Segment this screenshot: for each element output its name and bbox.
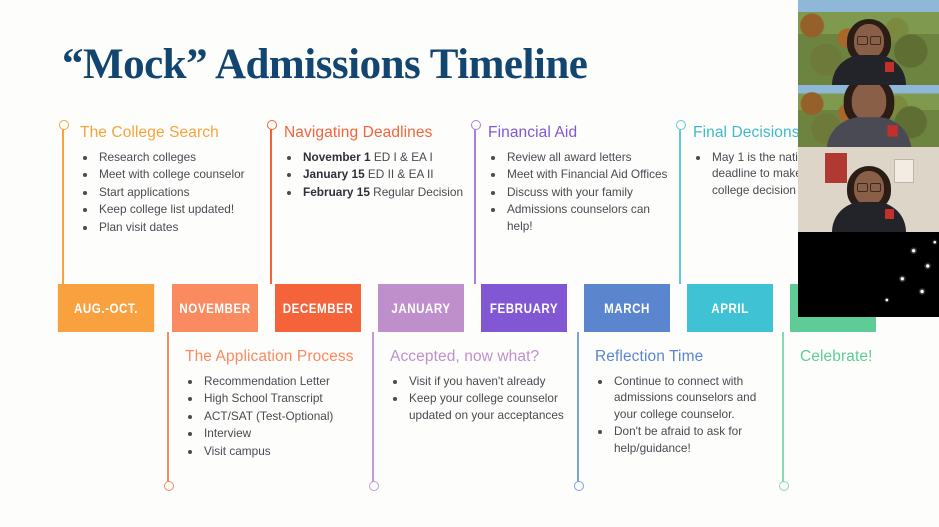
month-cell-february[interactable]: FEBRUARY (474, 284, 577, 332)
avatar-body (832, 202, 906, 232)
shirt-logo (885, 209, 894, 219)
video-call-panel (798, 0, 939, 317)
connector-ring-icon (59, 120, 69, 130)
list-item: Keep your college counselor updated on y… (407, 390, 565, 423)
month-cell-april[interactable]: APRIL (680, 284, 783, 332)
connector-ring-icon (164, 481, 174, 491)
timeline-block-financial-aid: Financial Aid Review all award letters M… (488, 124, 673, 235)
connector-ring-icon (574, 481, 584, 491)
avatar-body (832, 55, 906, 85)
timeline-block-accepted-now-what: Accepted, now what? Visit if you haven't… (390, 348, 565, 424)
list-item: Keep college list updated! (97, 201, 275, 217)
list-item: Recommendation Letter (202, 373, 380, 389)
month-cell-march[interactable]: MARCH (577, 284, 680, 332)
timeline-block-reflection-time: Reflection Time Continue to connect with… (595, 348, 780, 457)
block-heading: Accepted, now what? (390, 348, 565, 366)
month-cell-december[interactable]: DECEMBER (268, 284, 371, 332)
avatar-head (854, 24, 884, 58)
list-item: Don't be afraid to ask for help/guidance… (612, 423, 780, 456)
month-cell-aug-oct[interactable]: AUG.-OCT. (50, 284, 165, 332)
video-tile-participant-3[interactable] (798, 147, 939, 232)
block-heading: Reflection Time (595, 348, 780, 366)
participant-avatar (832, 24, 906, 85)
month-label: DECEMBER (275, 284, 361, 332)
connector-ring-icon (369, 481, 379, 491)
connector-line-reflection-time (577, 332, 579, 487)
block-heading: Celebrate! (800, 348, 930, 366)
video-tile-participant-4[interactable] (798, 232, 939, 317)
block-bullet-list: Visit if you haven't already Keep your c… (390, 373, 565, 423)
avatar-body (826, 117, 911, 147)
list-item: Review all award letters (505, 149, 673, 165)
month-cell-january[interactable]: JANUARY (371, 284, 474, 332)
shirt-logo (887, 125, 897, 137)
list-item: Discuss with your family (505, 184, 673, 200)
block-bullet-list: Continue to connect with admissions coun… (595, 373, 780, 456)
list-item: November 1 ED I & EA I (301, 149, 479, 165)
list-item: Continue to connect with admissions coun… (612, 373, 780, 422)
month-cell-november[interactable]: NOVEMBER (165, 284, 268, 332)
glasses-icon (857, 183, 881, 190)
string-lights-background (798, 232, 939, 317)
list-item: February 15 Regular Decision (301, 184, 479, 200)
participant-avatar (826, 85, 911, 147)
list-item: Admissions counselors can help! (505, 201, 673, 234)
connector-ring-icon (779, 481, 789, 491)
timeline-month-bar: AUG.-OCT. NOVEMBER DECEMBER JANUARY FEBR… (50, 284, 886, 332)
list-item: Interview (202, 425, 380, 441)
page-title: “Mock” Admissions Timeline (62, 40, 587, 89)
glasses-icon (857, 36, 881, 43)
month-label: MARCH (584, 284, 670, 332)
list-item: January 15 ED II & EA II (301, 166, 479, 182)
list-item: Visit if you haven't already (407, 373, 565, 389)
block-bullet-list: Recommendation Letter High School Transc… (185, 373, 380, 459)
list-item: Meet with college counselor (97, 166, 275, 182)
month-label: NOVEMBER (172, 284, 258, 332)
block-bullet-list: Review all award letters Meet with Finan… (488, 149, 673, 234)
avatar-head (854, 171, 884, 205)
list-item: ACT/SAT (Test-Optional) (202, 408, 380, 424)
block-heading: Financial Aid (488, 124, 673, 142)
video-tile-participant-1[interactable] (798, 0, 939, 85)
avatar-head (851, 85, 886, 121)
list-item: Meet with Financial Aid Offices (505, 166, 673, 182)
list-item: High School Transcript (202, 390, 380, 406)
list-item: Research colleges (97, 149, 275, 165)
connector-line-final-decisions (679, 124, 681, 284)
connector-line-celebrate (782, 332, 784, 487)
timeline-block-navigating-deadlines: Navigating Deadlines November 1 ED I & E… (284, 124, 479, 201)
month-label: AUG.-OCT. (58, 284, 154, 332)
block-bullet-list: November 1 ED I & EA I January 15 ED II … (284, 149, 479, 200)
list-item: Visit campus (202, 443, 380, 459)
connector-line-college-search (62, 124, 64, 284)
block-heading: Navigating Deadlines (284, 124, 479, 142)
connector-line-application-process (167, 332, 169, 487)
block-heading: The College Search (80, 124, 275, 142)
month-label: FEBRUARY (481, 284, 567, 332)
participant-avatar (832, 171, 906, 232)
shirt-logo (885, 62, 894, 72)
timeline-block-college-search: The College Search Research colleges Mee… (80, 124, 275, 236)
block-bullet-list: Research colleges Meet with college coun… (80, 149, 275, 235)
timeline-block-application-process: The Application Process Recommendation L… (185, 348, 380, 460)
list-item: Start applications (97, 184, 275, 200)
connector-ring-icon (676, 120, 686, 130)
video-tile-participant-2[interactable] (798, 85, 939, 147)
block-heading: The Application Process (185, 348, 380, 366)
timeline-block-celebrate: Celebrate! (800, 348, 930, 373)
month-label: APRIL (687, 284, 773, 332)
list-item: Plan visit dates (97, 219, 275, 235)
month-label: JANUARY (378, 284, 464, 332)
